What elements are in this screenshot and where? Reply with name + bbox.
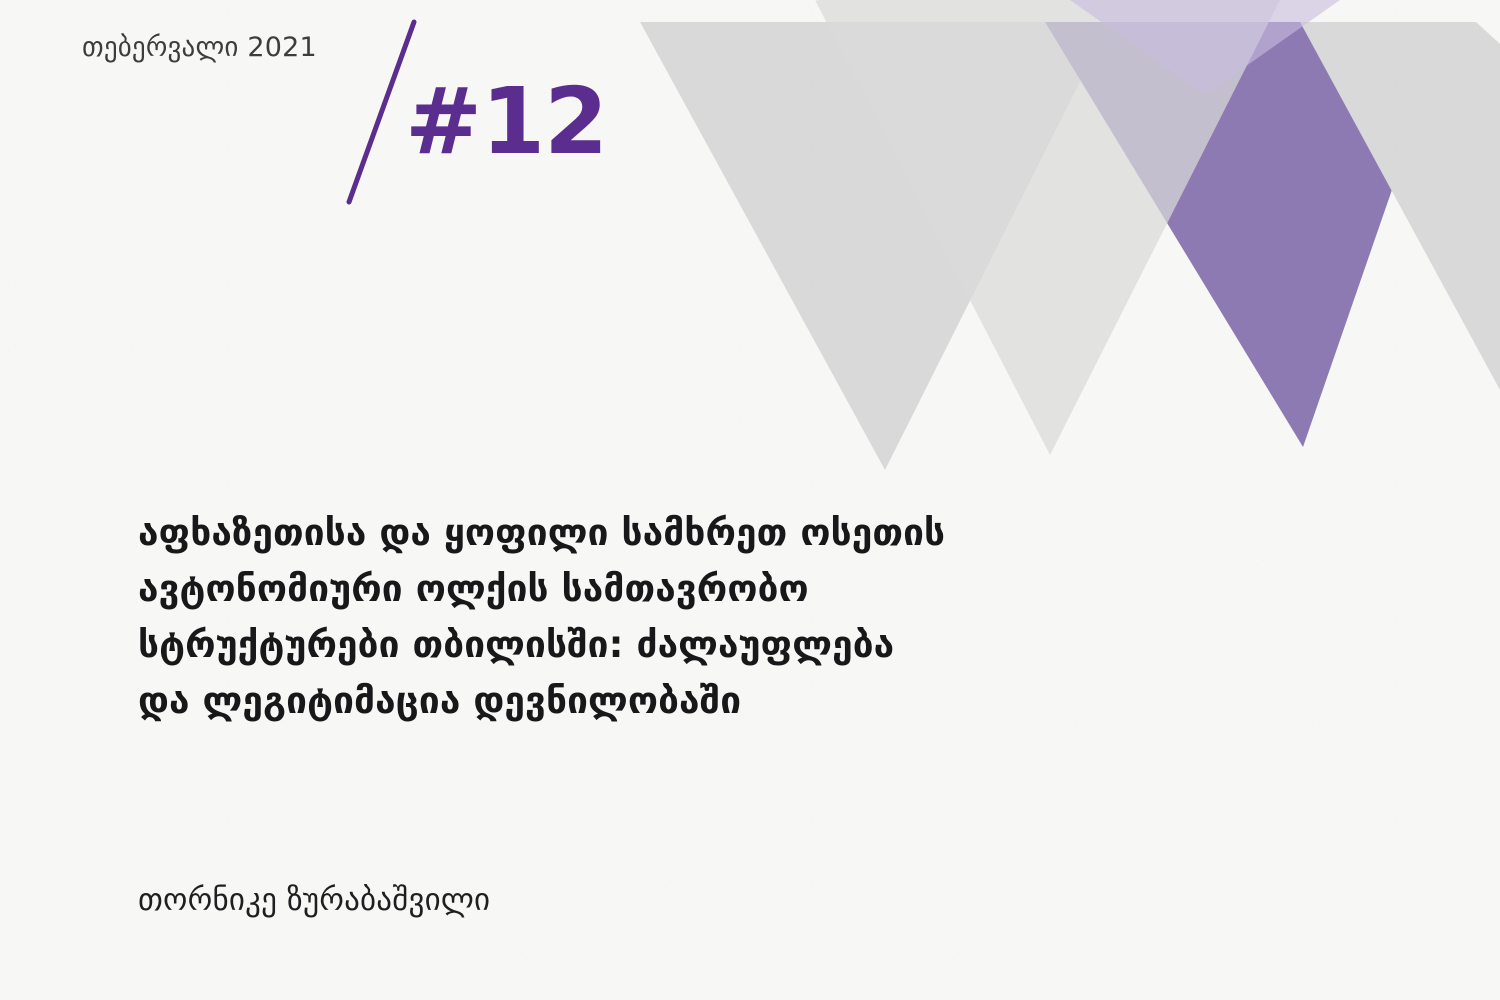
title-line: და ლეგიტიმაცია დევნილობაში bbox=[138, 673, 1168, 729]
white-strip-top-left bbox=[640, 0, 820, 22]
page-title: აფხაზეთისა და ყოფილი სამხრეთ ოსეთის ავტო… bbox=[138, 505, 1168, 729]
issue-date: თებერვალი 2021 bbox=[82, 32, 317, 63]
title-line: ავტონომიური ოლქის სამთავრობო bbox=[138, 561, 1168, 617]
publication-cover: თებერვალი 2021 #12 აფხაზეთისა და ყოფილი … bbox=[0, 0, 1500, 1000]
masthead: თებერვალი 2021 #12 bbox=[0, 0, 640, 220]
title-line: აფხაზეთისა და ყოფილი სამხრეთ ოსეთის bbox=[138, 505, 1168, 561]
author-name: თორნიკე ზურაბაშვილი bbox=[138, 882, 490, 918]
triangles-artwork bbox=[640, 0, 1500, 470]
triangles-svg bbox=[640, 0, 1500, 470]
title-line: სტრუქტურები თბილისში: ძალაუფლება bbox=[138, 617, 1168, 673]
issue-number: #12 bbox=[405, 76, 607, 168]
